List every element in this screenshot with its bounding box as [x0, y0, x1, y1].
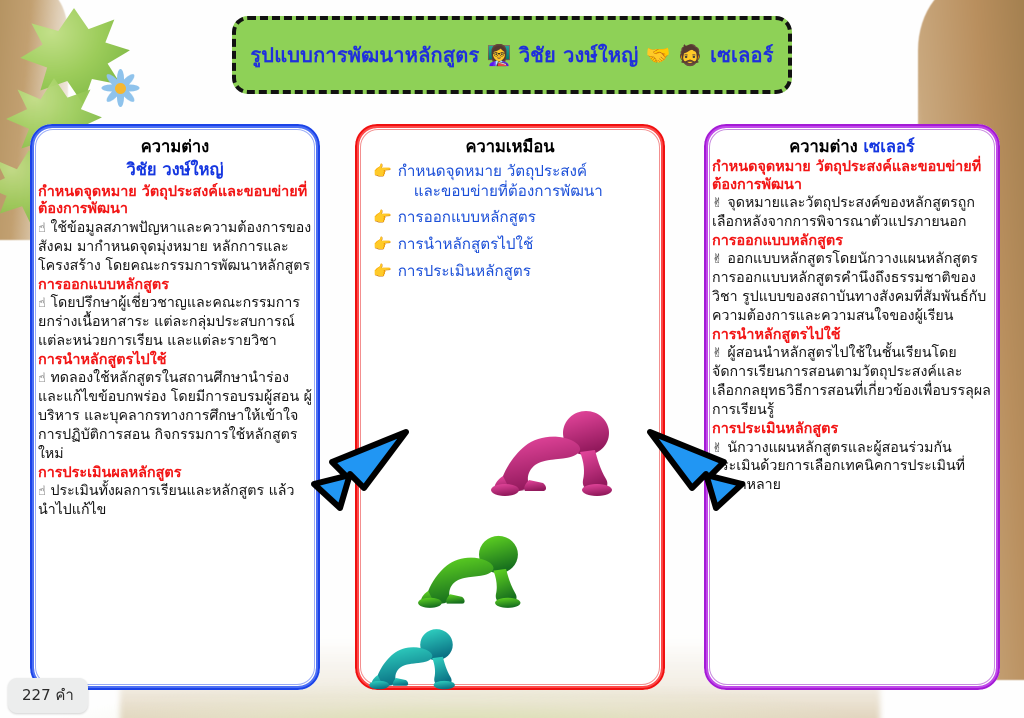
- center-panel-heading: ความเหมือน: [363, 136, 657, 158]
- baby-crawling-teal-icon: [365, 628, 457, 690]
- slide-canvas: รูปแบบการพัฒนาหลักสูตร 👩‍🏫 วิชัย วงษ์ใหญ…: [0, 0, 1024, 718]
- list-item: 👉 การออกแบบหลักสูตร: [363, 208, 657, 228]
- point-up-icon: ☝: [38, 484, 46, 499]
- left-section-head: การออกแบบหลักสูตร: [38, 277, 312, 295]
- right-section: กำหนดจุดหมาย วัตถุประสงค์และขอบข่ายที่ต้…: [712, 159, 992, 232]
- right-section-body: ✌ ออกแบบหลักสูตรโดยนักวางแผนหลักสูตร การ…: [712, 250, 992, 326]
- panel-differences-saylor: ความต่าง เซเลอร์ กำหนดจุดหมาย วัตถุประสง…: [704, 124, 1000, 690]
- right-section: การนำหลักสูตรไปใช้ ✌ ผู้สอนนำหลักสูตรไปใ…: [712, 327, 992, 420]
- pointing-right-icon: 👉: [373, 262, 392, 281]
- left-section-body: ☝ ใช้ข้อมูลสภาพปัญหาและความต้องการของสัง…: [38, 219, 312, 276]
- panel-similarities: ความเหมือน 👉 กำหนดจุดหมาย วัตถุประสงค์แล…: [355, 124, 665, 690]
- victory-hand-icon: ✌: [712, 252, 723, 267]
- pointing-right-icon: 👉: [373, 235, 392, 254]
- point-up-icon: ☝: [38, 371, 46, 386]
- right-section-head: การประเมินหลักสูตร: [712, 421, 992, 439]
- left-section-head: การประเมินผลหลักสูตร: [38, 465, 312, 483]
- right-panel-heading-name: เซเลอร์: [863, 137, 914, 156]
- list-item-label: การประเมินหลักสูตร: [398, 262, 657, 282]
- point-up-icon: ☝: [38, 221, 46, 236]
- baby-crawling-pink-icon: [485, 410, 615, 502]
- title-banner: รูปแบบการพัฒนาหลักสูตร 👩‍🏫 วิชัย วงษ์ใหญ…: [232, 16, 792, 94]
- left-panel-heading: ความต่าง: [38, 136, 312, 158]
- victory-hand-icon: ✌: [712, 346, 723, 361]
- panel-differences-wichai: ความต่าง วิชัย วงษ์ใหญ่ กำหนดจุดหมาย วัต…: [30, 124, 320, 690]
- list-item: 👉 การประเมินหลักสูตร: [363, 262, 657, 282]
- page-title: รูปแบบการพัฒนาหลักสูตร 👩‍🏫 วิชัย วงษ์ใหญ…: [250, 39, 773, 71]
- left-section: การนำหลักสูตรไปใช้ ☝ ทดลองใช้หลักสูตรในส…: [38, 352, 312, 464]
- arrow-right-to-center: [644, 424, 750, 516]
- list-item-label: การออกแบบหลักสูตร: [398, 208, 657, 228]
- right-section-head: การออกแบบหลักสูตร: [712, 233, 992, 251]
- right-panel-heading: ความต่าง เซเลอร์: [712, 136, 992, 158]
- list-item: 👉 กำหนดจุดหมาย วัตถุประสงค์และขอบข่ายที่…: [363, 162, 657, 202]
- right-section-head: กำหนดจุดหมาย วัตถุประสงค์และขอบข่ายที่ต้…: [712, 159, 992, 194]
- left-section-body: ☝ ประเมินทั้งผลการเรียนและหลักสูตร แล้วน…: [38, 482, 312, 520]
- flower-icon: [98, 66, 142, 110]
- left-section: การประเมินผลหลักสูตร ☝ ประเมินทั้งผลการเ…: [38, 465, 312, 520]
- left-section-head: การนำหลักสูตรไปใช้: [38, 352, 312, 370]
- pointing-right-icon: 👉: [373, 162, 392, 181]
- list-item-label: การนำหลักสูตรไปใช้: [398, 235, 657, 255]
- right-section: การประเมินหลักสูตร ✌ นักวางแผนหลักสูตรแล…: [712, 421, 992, 495]
- left-section: การออกแบบหลักสูตร ☝ โดยปรึกษาผู้เชี่ยวชา…: [38, 277, 312, 351]
- left-section-head: กำหนดจุดหมาย วัตถุประสงค์และขอบข่ายที่ต้…: [38, 184, 312, 219]
- victory-hand-icon: ✌: [712, 196, 723, 211]
- similarities-list: 👉 กำหนดจุดหมาย วัตถุประสงค์และขอบข่ายที่…: [363, 162, 657, 282]
- left-section-body: ☝ ทดลองใช้หลักสูตรในสถานศึกษานำร่อง และแ…: [38, 369, 312, 463]
- left-section: กำหนดจุดหมาย วัตถุประสงค์และขอบข่ายที่ต้…: [38, 184, 312, 276]
- left-section-body: ☝ โดยปรึกษาผู้เชี่ยวชาญและคณะกรรมการ ยกร…: [38, 294, 312, 351]
- baby-crawling-green-icon: [413, 534, 523, 614]
- arrow-left-to-center: [306, 424, 412, 516]
- point-up-icon: ☝: [38, 296, 46, 311]
- pointing-right-icon: 👉: [373, 208, 392, 227]
- left-panel-subheading: วิชัย วงษ์ใหญ่: [38, 159, 312, 181]
- right-section-body: ✌ จุดหมายและวัตถุประสงค์ของหลักสูตรถูกเล…: [712, 194, 992, 232]
- right-section: การออกแบบหลักสูตร ✌ ออกแบบหลักสูตรโดยนัก…: [712, 233, 992, 326]
- right-section-head: การนำหลักสูตรไปใช้: [712, 327, 992, 345]
- right-section-body: ✌ ผู้สอนนำหลักสูตรไปใช้ในชั้นเรียนโดยจัด…: [712, 344, 992, 420]
- list-item-label: กำหนดจุดหมาย วัตถุประสงค์และขอบข่ายที่ต้…: [398, 162, 657, 202]
- word-count-badge: 227 คำ: [8, 678, 88, 713]
- right-section-body: ✌ นักวางแผนหลักสูตรและผู้สอนร่วมกันประเม…: [712, 439, 992, 496]
- list-item: 👉 การนำหลักสูตรไปใช้: [363, 235, 657, 255]
